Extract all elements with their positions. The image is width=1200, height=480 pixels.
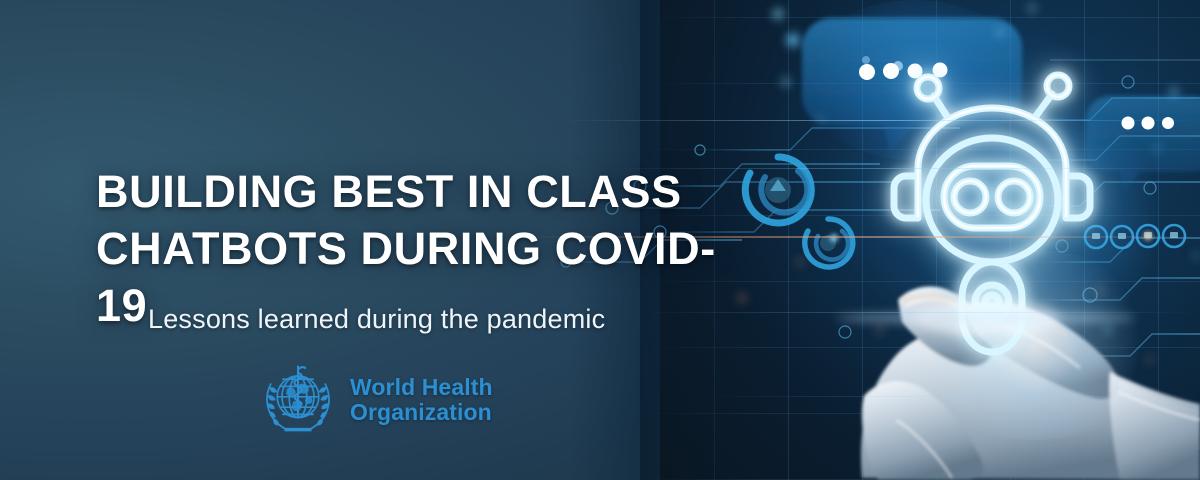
copy-block: BUILDING BEST IN CLASS CHATBOTS DURING C… bbox=[0, 0, 760, 480]
who-wordmark-line1: World Health bbox=[350, 375, 493, 400]
page-subtitle: Lessons learned during the pandemic bbox=[148, 302, 768, 336]
who-wordmark-line2: Organization bbox=[350, 400, 493, 425]
light-streak bbox=[700, 396, 1200, 397]
banner-hero: BUILDING BEST IN CLASS CHATBOTS DURING C… bbox=[0, 0, 1200, 480]
who-logo: World Health Organization bbox=[258, 360, 493, 440]
who-logo-wordmark: World Health Organization bbox=[350, 375, 493, 425]
who-emblem-icon bbox=[258, 360, 338, 440]
